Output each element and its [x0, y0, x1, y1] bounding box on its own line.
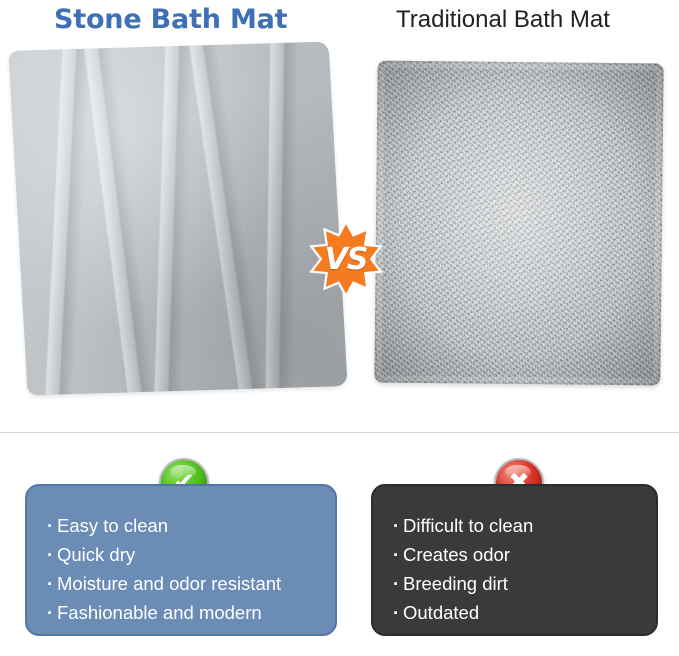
list-item: Outdated	[393, 599, 638, 628]
list-item: Breeding dirt	[393, 570, 638, 599]
pros-list: Easy to clean Quick dry Moisture and odo…	[47, 512, 317, 627]
list-item: Creates odor	[393, 541, 638, 570]
traditional-bath-mat-image	[376, 62, 662, 384]
list-item: Difficult to clean	[393, 512, 638, 541]
traditional-mat-surface	[374, 61, 663, 386]
traditional-mat-edge	[376, 63, 661, 384]
stone-bath-mat-image	[18, 46, 338, 391]
left-product-title: Stone Bath Mat	[54, 4, 287, 35]
cons-panel: Difficult to clean Creates odor Breeding…	[371, 484, 658, 636]
vs-badge: VS	[309, 222, 383, 296]
cons-list: Difficult to clean Creates odor Breeding…	[393, 512, 638, 627]
section-divider	[0, 432, 679, 433]
pros-panel: Easy to clean Quick dry Moisture and odo…	[25, 484, 337, 636]
comparison-infographic: Stone Bath Mat Traditional Bath Mat VS	[0, 0, 679, 656]
list-item: Fashionable and modern	[47, 599, 317, 628]
vs-label: VS	[309, 222, 383, 296]
right-product-title: Traditional Bath Mat	[396, 6, 610, 34]
list-item: Easy to clean	[47, 512, 317, 541]
list-item: Quick dry	[47, 541, 317, 570]
stone-mat-surface	[8, 42, 347, 396]
list-item: Moisture and odor resistant	[47, 570, 317, 599]
